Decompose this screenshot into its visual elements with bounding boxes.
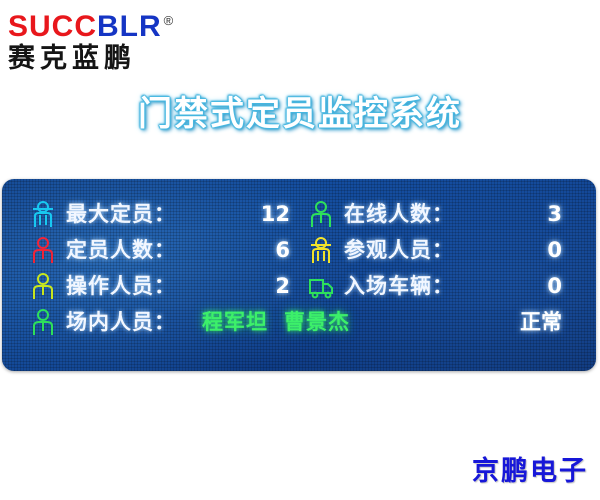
led-value: 0 [547, 274, 582, 298]
personnel-name: 程军坦 [202, 310, 268, 334]
brand-chinese-name: 赛克蓝鹏 [8, 43, 218, 75]
led-label-personnel-inside: 场内人员： [66, 310, 176, 334]
truck-icon [308, 272, 334, 300]
brand-wordmark: SUCCBLR® [8, 4, 218, 42]
led-value: 6 [275, 238, 304, 262]
led-value: 2 [275, 274, 304, 298]
page-title: 门禁式定员监控系统 [0, 92, 600, 136]
led-cell-visitor-count: 参观人员： 0 [304, 236, 582, 264]
person-icon [30, 272, 56, 300]
brand-wordmark-succ: SUCC [8, 10, 97, 43]
company-logo: SUCCBLR® 赛克蓝鹏 [8, 4, 218, 74]
led-cell-online-count: 在线人数： 3 [304, 200, 582, 228]
led-label: 在线人数： [344, 202, 454, 226]
led-row: 操作人员： 2 入场车辆： 0 [30, 268, 582, 304]
person-icon [308, 200, 334, 228]
personnel-name-list: 程军坦曹景杰 [202, 310, 366, 334]
led-row: 最大定员： 12 在线人数： 3 [30, 196, 582, 232]
registered-trademark-icon: ® [164, 13, 175, 28]
led-label: 入场车辆： [344, 274, 454, 298]
person-with-hat-icon [30, 200, 56, 228]
led-label: 定员人数： [66, 238, 176, 262]
led-cell-registered-count: 定员人数： 6 [30, 236, 304, 264]
led-value: 3 [547, 202, 582, 226]
footer-company-name: 京鹏电子 [472, 456, 588, 488]
led-label: 参观人员： [344, 238, 454, 262]
led-cell-operator-count: 操作人员： 2 [30, 272, 304, 300]
status-badge: 正常 [520, 310, 582, 334]
person-icon [30, 308, 56, 336]
led-cell-vehicle-count: 入场车辆： 0 [304, 272, 582, 300]
led-row-personnel-inside: 场内人员： 程军坦曹景杰 正常 [30, 304, 582, 340]
led-label: 最大定员： [66, 202, 176, 226]
person-icon [30, 236, 56, 264]
led-cell-max-capacity: 最大定员： 12 [30, 200, 304, 228]
led-content-grid: 最大定员： 12 在线人数： 3 [2, 179, 596, 371]
led-label: 操作人员： [66, 274, 176, 298]
personnel-name: 曹景杰 [284, 310, 350, 334]
brand-wordmark-blr: BLR [97, 10, 162, 43]
led-value: 12 [261, 202, 304, 226]
person-with-hat-icon [308, 236, 334, 264]
led-row: 定员人数： 6 参观人员： 0 [30, 232, 582, 268]
led-display-panel: 最大定员： 12 在线人数： 3 [2, 179, 596, 371]
led-value: 0 [547, 238, 582, 262]
